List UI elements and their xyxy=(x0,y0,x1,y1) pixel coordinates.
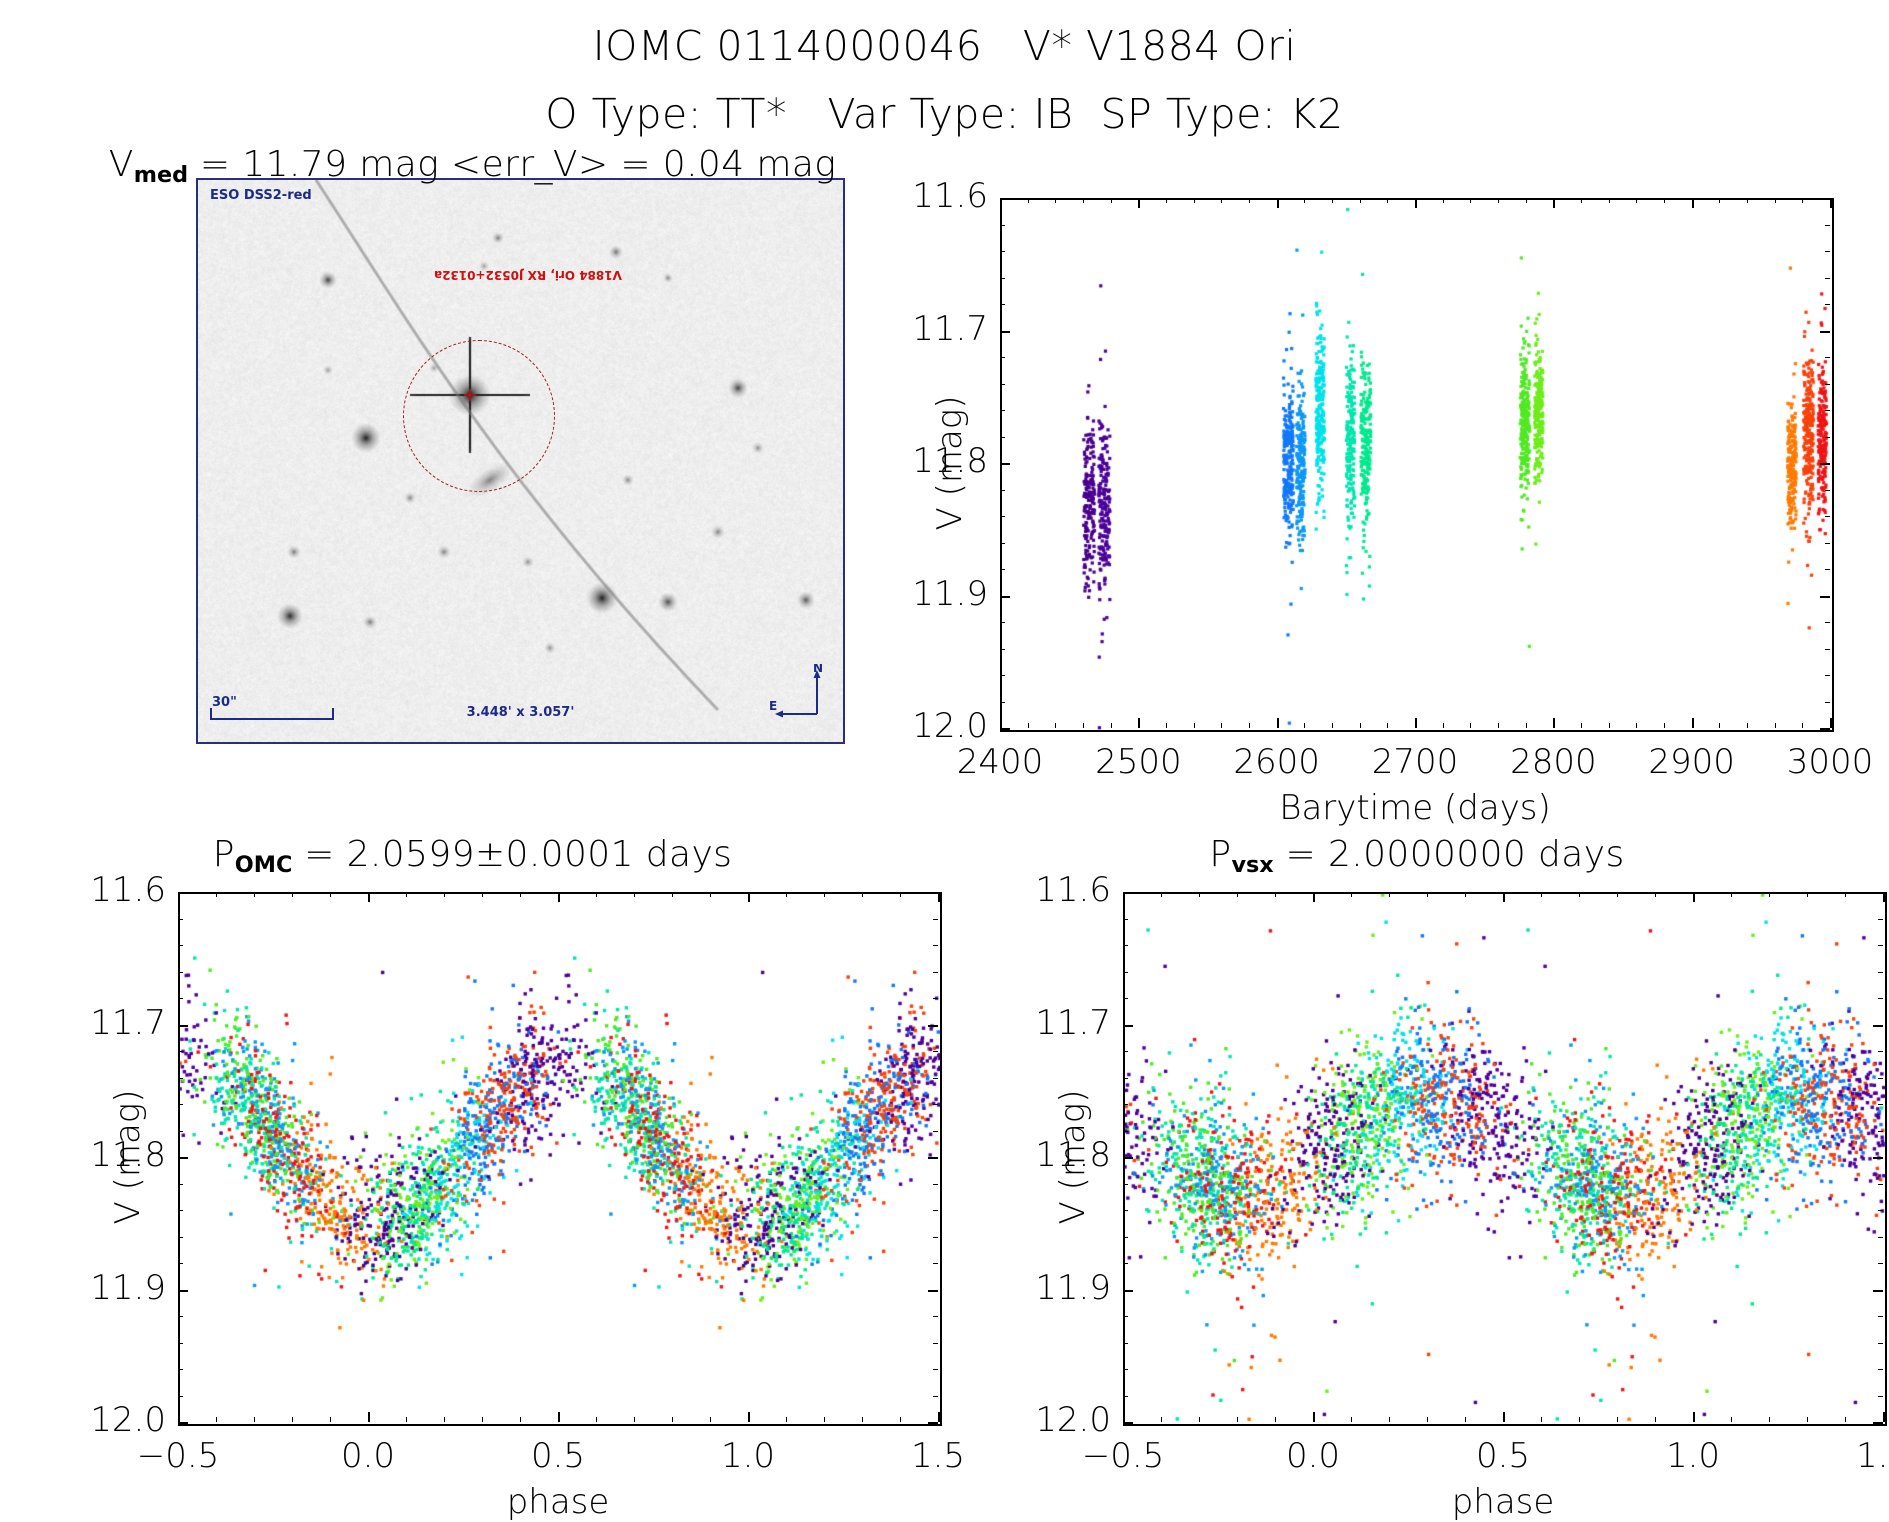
phase-vsx-x-axis-label: phase xyxy=(1123,1482,1883,1522)
axis-tick-label: 11.7 xyxy=(0,1003,166,1043)
axis-tick xyxy=(558,892,560,902)
axis-tick xyxy=(1470,723,1471,728)
axis-tick xyxy=(178,1396,183,1397)
axis-tick xyxy=(1332,198,1333,203)
axis-tick xyxy=(1807,1417,1808,1422)
axis-tick xyxy=(520,1417,521,1422)
axis-tick xyxy=(1609,723,1610,728)
axis-tick xyxy=(933,1184,938,1185)
axis-tick xyxy=(1825,543,1830,544)
axis-tick xyxy=(1123,1157,1133,1159)
axis-tick xyxy=(933,1369,938,1370)
axis-tick xyxy=(1664,198,1665,203)
axis-tick xyxy=(1878,972,1883,973)
axis-tick xyxy=(292,1417,293,1422)
axis-tick xyxy=(824,1417,825,1422)
axis-tick xyxy=(1123,1422,1133,1424)
axis-tick xyxy=(178,1237,183,1238)
axis-tick xyxy=(178,1263,183,1264)
axis-tick-label: 11.6 xyxy=(0,870,166,910)
axis-tick xyxy=(1825,437,1830,438)
axis-tick xyxy=(933,1263,938,1264)
axis-tick xyxy=(1443,723,1444,728)
axis-tick xyxy=(1825,675,1830,676)
axis-tick xyxy=(672,892,673,897)
axis-tick xyxy=(1498,723,1499,728)
axis-tick xyxy=(1111,198,1112,203)
axis-tick-label: 0.0 xyxy=(341,1436,395,1476)
axis-tick xyxy=(1000,437,1005,438)
axis-tick xyxy=(558,1412,560,1422)
axis-tick xyxy=(1000,384,1005,385)
axis-tick xyxy=(596,1417,597,1422)
axis-tick xyxy=(1830,718,1832,728)
axis-tick xyxy=(933,919,938,920)
axis-tick xyxy=(254,892,255,897)
axis-tick xyxy=(1820,728,1830,730)
axis-tick xyxy=(1825,304,1830,305)
axis-tick xyxy=(1617,1417,1618,1422)
axis-tick xyxy=(1123,1290,1133,1292)
axis-tick xyxy=(1000,702,1005,703)
axis-tick xyxy=(928,1157,938,1159)
axis-tick-label: 1.0 xyxy=(721,1436,775,1476)
axis-tick xyxy=(1123,1369,1128,1370)
axis-tick xyxy=(1221,723,1222,728)
axis-tick xyxy=(178,1104,183,1105)
axis-tick xyxy=(482,892,483,897)
axis-tick xyxy=(1123,1210,1128,1211)
axis-tick-label: 2600 xyxy=(1233,742,1320,782)
axis-tick xyxy=(1775,198,1776,203)
axis-tick xyxy=(1387,198,1388,203)
axis-tick-label: 12.0 xyxy=(0,706,988,746)
axis-tick xyxy=(1878,1184,1883,1185)
axis-tick xyxy=(1873,1157,1883,1159)
axis-tick xyxy=(1055,198,1056,203)
lightcurve-datapoints xyxy=(1002,200,1832,730)
axis-tick xyxy=(1807,892,1808,897)
axis-tick xyxy=(482,1417,483,1422)
axis-tick xyxy=(1138,718,1140,728)
axis-tick xyxy=(1304,198,1305,203)
axis-tick xyxy=(254,1417,255,1422)
axis-tick xyxy=(1194,198,1195,203)
axis-tick xyxy=(216,1417,217,1422)
axis-tick xyxy=(1747,723,1748,728)
axis-tick xyxy=(1123,1396,1128,1397)
axis-tick xyxy=(933,1078,938,1079)
axis-tick xyxy=(1609,198,1610,203)
axis-tick xyxy=(1249,198,1250,203)
axis-tick xyxy=(1878,1263,1883,1264)
axis-tick xyxy=(520,892,521,897)
axis-tick xyxy=(933,998,938,999)
axis-tick xyxy=(1166,723,1167,728)
axis-tick xyxy=(1194,723,1195,728)
axis-tick xyxy=(1878,1237,1883,1238)
axis-tick xyxy=(1028,198,1029,203)
phase-vsx-plot-frame xyxy=(1123,892,1887,1426)
axis-tick-label: 2700 xyxy=(1372,742,1459,782)
axis-tick xyxy=(1873,1025,1883,1027)
axis-tick xyxy=(1000,278,1005,279)
axis-tick xyxy=(1825,410,1830,411)
axis-tick xyxy=(1878,1343,1883,1344)
axis-tick xyxy=(710,892,711,897)
axis-tick xyxy=(1123,1263,1128,1264)
axis-tick xyxy=(1387,723,1388,728)
axis-tick xyxy=(1000,304,1005,305)
axis-tick xyxy=(1878,1078,1883,1079)
axis-tick xyxy=(933,945,938,946)
axis-tick xyxy=(1883,1412,1885,1422)
axis-tick xyxy=(933,1237,938,1238)
axis-tick xyxy=(178,1422,188,1424)
axis-tick xyxy=(1000,410,1005,411)
axis-tick xyxy=(1692,718,1694,728)
axis-tick xyxy=(1249,723,1250,728)
axis-tick xyxy=(938,892,940,902)
lightcurve-x-axis-label: Barytime (days) xyxy=(1000,788,1830,828)
axis-tick xyxy=(444,892,445,897)
axis-tick xyxy=(1000,331,1010,333)
axis-tick-label: 11.9 xyxy=(0,574,988,614)
axis-tick xyxy=(330,1417,331,1422)
phase-vsx-panel: Pvsx = 2.0000000 days phase V (mag) −0.5… xyxy=(945,830,1889,1494)
axis-tick-label: 2400 xyxy=(957,742,1044,782)
axis-tick xyxy=(1825,516,1830,517)
axis-tick xyxy=(672,1417,673,1422)
axis-tick-label: 11.8 xyxy=(0,1135,166,1175)
axis-tick xyxy=(933,972,938,973)
axis-tick xyxy=(178,1078,183,1079)
axis-tick xyxy=(1427,1417,1428,1422)
axis-tick xyxy=(1443,198,1444,203)
axis-tick xyxy=(1123,1343,1128,1344)
axis-tick xyxy=(178,919,183,920)
axis-tick xyxy=(933,1131,938,1132)
axis-tick xyxy=(786,1417,787,1422)
axis-tick xyxy=(1415,718,1417,728)
axis-tick xyxy=(406,1417,407,1422)
axis-tick xyxy=(1719,198,1720,203)
axis-tick xyxy=(178,1051,183,1052)
axis-tick-label: −0.5 xyxy=(137,1436,220,1476)
axis-tick xyxy=(178,1025,188,1027)
axis-tick xyxy=(1199,1417,1200,1422)
axis-tick xyxy=(1731,892,1732,897)
axis-tick xyxy=(1313,892,1315,902)
axis-tick-label: 0.0 xyxy=(1286,1436,1340,1476)
axis-tick xyxy=(1465,1417,1466,1422)
axis-tick xyxy=(1503,892,1505,902)
axis-tick xyxy=(1873,892,1883,894)
axis-tick xyxy=(1055,723,1056,728)
axis-tick xyxy=(1351,1417,1352,1422)
axis-tick xyxy=(1825,569,1830,570)
phase-omc-plot-frame xyxy=(178,892,942,1426)
axis-tick xyxy=(1083,198,1084,203)
axis-tick xyxy=(1123,1237,1128,1238)
axis-tick xyxy=(1000,596,1010,598)
axis-tick xyxy=(933,1343,938,1344)
axis-tick xyxy=(1000,569,1005,570)
axis-tick xyxy=(1541,1417,1542,1422)
axis-tick xyxy=(1636,723,1637,728)
axis-tick xyxy=(216,892,217,897)
axis-tick xyxy=(178,1210,183,1211)
axis-tick xyxy=(1878,1369,1883,1370)
lightcurve-plot-frame xyxy=(1000,198,1834,732)
axis-tick xyxy=(1313,1412,1315,1422)
axis-tick xyxy=(928,1290,938,1292)
axis-tick xyxy=(1655,1417,1656,1422)
axis-tick xyxy=(1820,596,1830,598)
axis-tick xyxy=(1000,516,1005,517)
axis-tick-label: 2900 xyxy=(1648,742,1735,782)
axis-tick xyxy=(1820,198,1830,200)
axis-tick xyxy=(1655,892,1656,897)
axis-tick-label: 2800 xyxy=(1510,742,1597,782)
axis-tick xyxy=(1000,225,1005,226)
axis-tick xyxy=(862,892,863,897)
axis-tick xyxy=(1199,892,1200,897)
axis-tick xyxy=(178,1412,180,1422)
axis-tick xyxy=(1237,892,1238,897)
axis-tick xyxy=(748,892,750,902)
axis-tick xyxy=(928,1025,938,1027)
axis-tick xyxy=(178,1369,183,1370)
axis-tick xyxy=(1360,198,1361,203)
axis-tick xyxy=(1878,919,1883,920)
axis-tick xyxy=(178,1290,188,1292)
axis-tick xyxy=(1360,723,1361,728)
axis-tick xyxy=(1123,972,1128,973)
axis-tick xyxy=(1825,278,1830,279)
axis-tick xyxy=(1581,198,1582,203)
axis-tick xyxy=(1878,998,1883,999)
axis-tick xyxy=(1123,892,1133,894)
axis-tick xyxy=(1304,723,1305,728)
axis-tick xyxy=(928,1422,938,1424)
axis-tick xyxy=(1878,1051,1883,1052)
phase-vsx-datapoints xyxy=(1125,894,1885,1424)
axis-tick xyxy=(1123,1131,1128,1132)
axis-tick xyxy=(178,1131,183,1132)
axis-tick xyxy=(933,1210,938,1211)
axis-tick-label: 2500 xyxy=(1095,742,1182,782)
axis-tick xyxy=(1123,945,1128,946)
axis-tick xyxy=(1275,1417,1276,1422)
axis-tick xyxy=(1825,225,1830,226)
axis-tick xyxy=(1123,1316,1128,1317)
axis-tick xyxy=(178,1184,183,1185)
axis-tick xyxy=(1878,1396,1883,1397)
phase-omc-panel: POMC = 2.0599±0.0001 days phase V (mag) … xyxy=(0,830,945,1494)
axis-tick xyxy=(1221,198,1222,203)
axis-tick xyxy=(1123,1184,1128,1185)
axis-tick xyxy=(1825,357,1830,358)
axis-tick xyxy=(178,1157,188,1159)
axis-tick xyxy=(178,1343,183,1344)
axis-tick xyxy=(1664,723,1665,728)
axis-tick xyxy=(1769,1417,1770,1422)
axis-tick-label: 1.0 xyxy=(1666,1436,1720,1476)
axis-tick xyxy=(1028,723,1029,728)
axis-tick xyxy=(368,892,370,902)
axis-tick xyxy=(710,1417,711,1422)
axis-tick xyxy=(1526,198,1527,203)
axis-tick-label: 11.8 xyxy=(945,1135,1111,1175)
axis-tick xyxy=(1731,1417,1732,1422)
axis-tick xyxy=(824,892,825,897)
axis-tick xyxy=(1825,622,1830,623)
axis-tick xyxy=(1873,1290,1883,1292)
axis-tick xyxy=(406,892,407,897)
axis-tick xyxy=(1820,463,1830,465)
axis-tick xyxy=(1465,892,1466,897)
axis-tick xyxy=(1802,723,1803,728)
axis-tick xyxy=(330,892,331,897)
axis-tick xyxy=(1883,892,1885,902)
axis-tick xyxy=(1123,919,1128,920)
axis-tick xyxy=(748,1412,750,1422)
axis-tick xyxy=(1553,198,1555,208)
axis-tick xyxy=(1427,892,1428,897)
axis-tick xyxy=(1000,463,1010,465)
axis-tick xyxy=(1769,892,1770,897)
axis-tick xyxy=(1878,1131,1883,1132)
axis-tick-label: 12.0 xyxy=(0,1400,166,1440)
axis-tick xyxy=(634,1417,635,1422)
axis-tick xyxy=(1123,1412,1125,1422)
axis-tick xyxy=(1878,1316,1883,1317)
axis-tick xyxy=(1878,1104,1883,1105)
axis-tick xyxy=(900,1417,901,1422)
axis-tick xyxy=(1138,198,1140,208)
axis-tick xyxy=(368,1412,370,1422)
axis-tick xyxy=(1000,649,1005,650)
axis-tick xyxy=(933,1104,938,1105)
axis-tick xyxy=(1845,1417,1846,1422)
axis-tick xyxy=(1123,998,1128,999)
axis-tick xyxy=(933,1051,938,1052)
axis-tick xyxy=(786,892,787,897)
axis-tick xyxy=(178,972,183,973)
axis-tick xyxy=(1825,702,1830,703)
axis-tick xyxy=(1878,945,1883,946)
axis-tick-label: 0.5 xyxy=(1476,1436,1530,1476)
axis-tick xyxy=(1275,892,1276,897)
axis-tick xyxy=(1830,198,1832,208)
axis-tick xyxy=(1123,1025,1133,1027)
axis-tick xyxy=(1873,1422,1883,1424)
axis-tick xyxy=(1332,723,1333,728)
axis-tick xyxy=(1825,251,1830,252)
axis-tick xyxy=(1747,198,1748,203)
axis-tick xyxy=(900,892,901,897)
axis-tick-label: 11.6 xyxy=(0,176,988,216)
axis-tick xyxy=(1000,198,1010,200)
axis-tick xyxy=(1825,490,1830,491)
axis-tick xyxy=(1541,892,1542,897)
axis-tick xyxy=(1166,198,1167,203)
axis-tick xyxy=(1277,198,1279,208)
axis-tick xyxy=(1820,331,1830,333)
axis-tick xyxy=(292,892,293,897)
axis-tick xyxy=(178,998,183,999)
axis-tick xyxy=(1237,1417,1238,1422)
axis-tick xyxy=(1802,198,1803,203)
axis-tick xyxy=(1111,723,1112,728)
axis-tick-label: −0.5 xyxy=(1082,1436,1165,1476)
axis-tick xyxy=(1415,198,1417,208)
axis-tick xyxy=(634,892,635,897)
axis-tick-label: 11.8 xyxy=(0,441,988,481)
page-subtitle: O Type: TT* Var Type: IB SP Type: K2 xyxy=(0,90,1889,138)
phase-omc-datapoints xyxy=(180,894,940,1424)
axis-tick xyxy=(178,1316,183,1317)
axis-tick xyxy=(1000,728,1010,730)
axis-tick xyxy=(1878,1210,1883,1211)
axis-tick xyxy=(444,1417,445,1422)
axis-tick xyxy=(1498,198,1499,203)
axis-tick xyxy=(1161,1417,1162,1422)
axis-tick xyxy=(178,892,188,894)
axis-tick-label: 11.6 xyxy=(945,870,1111,910)
axis-tick xyxy=(1351,892,1352,897)
axis-tick xyxy=(1825,649,1830,650)
axis-tick xyxy=(178,945,183,946)
axis-tick xyxy=(1470,198,1471,203)
axis-tick xyxy=(1277,718,1279,728)
axis-tick xyxy=(1581,723,1582,728)
axis-tick xyxy=(1526,723,1527,728)
axis-tick xyxy=(1000,543,1005,544)
axis-tick xyxy=(1161,892,1162,897)
axis-tick xyxy=(1845,892,1846,897)
axis-tick-label: 11.7 xyxy=(0,309,988,349)
axis-tick-label: 1.5 xyxy=(1856,1436,1889,1476)
axis-tick xyxy=(1000,622,1005,623)
axis-tick xyxy=(1123,1051,1128,1052)
axis-tick xyxy=(933,1396,938,1397)
axis-tick xyxy=(1719,723,1720,728)
lightcurve-panel: Vmed = 11.79 mag <err_V> = 0.04 mag Bary… xyxy=(0,140,945,840)
axis-tick xyxy=(1000,675,1005,676)
axis-tick xyxy=(1389,892,1390,897)
axis-tick xyxy=(933,1316,938,1317)
axis-tick xyxy=(1503,1412,1505,1422)
axis-tick xyxy=(1000,357,1005,358)
axis-tick xyxy=(1000,718,1002,728)
axis-tick xyxy=(1692,198,1694,208)
axis-tick xyxy=(1775,723,1776,728)
axis-tick xyxy=(1000,490,1005,491)
axis-tick xyxy=(1636,198,1637,203)
axis-tick xyxy=(1000,251,1005,252)
page-title: IOMC 0114000046 V* V1884 Ori xyxy=(0,22,1889,70)
axis-tick xyxy=(938,1412,940,1422)
axis-tick-label: 11.9 xyxy=(0,1268,166,1308)
axis-tick xyxy=(928,892,938,894)
axis-tick xyxy=(596,892,597,897)
axis-tick-label: 12.0 xyxy=(945,1400,1111,1440)
axis-tick xyxy=(1825,384,1830,385)
axis-tick xyxy=(862,1417,863,1422)
axis-tick xyxy=(1579,1417,1580,1422)
